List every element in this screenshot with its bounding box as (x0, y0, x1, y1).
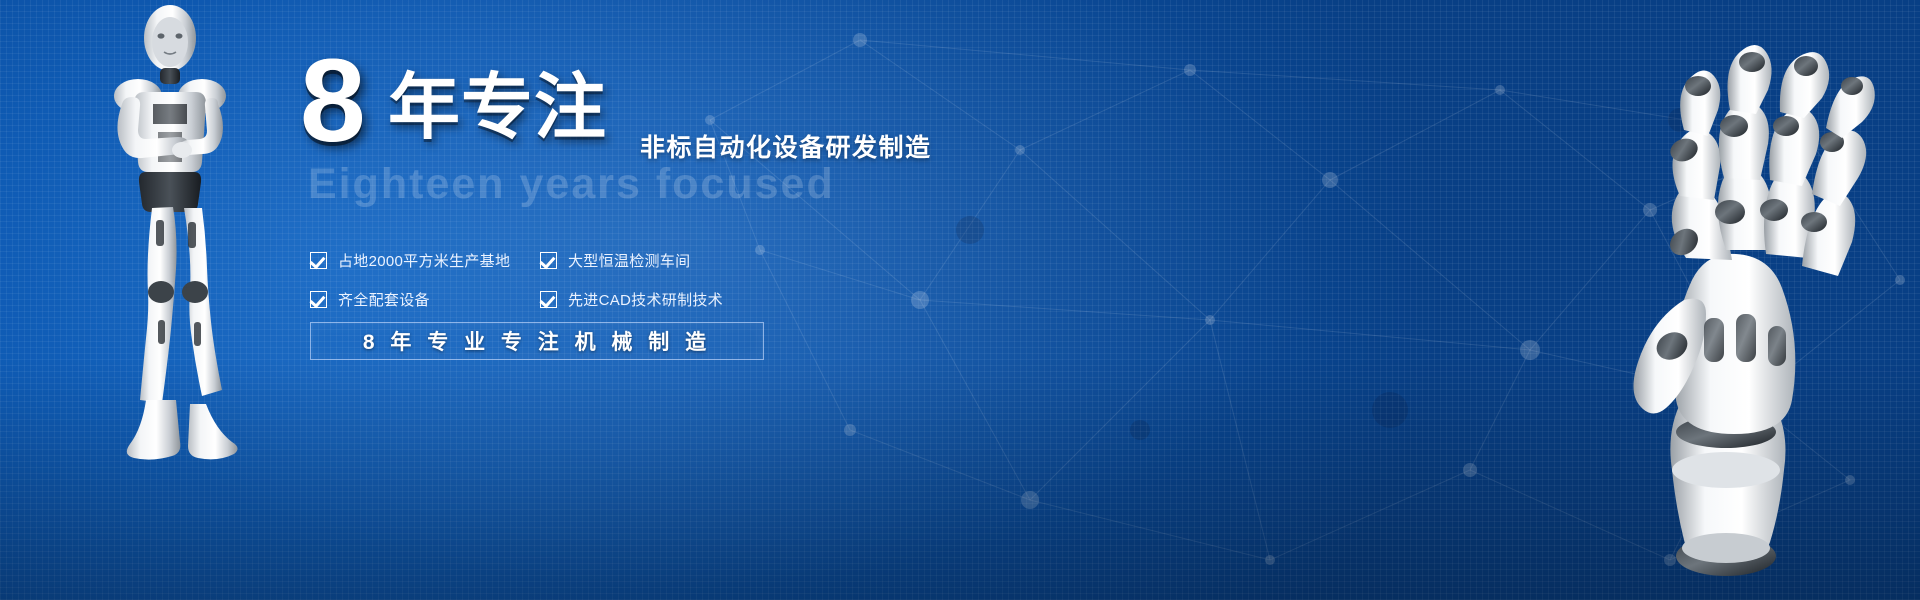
feature-item: 齐全配套设备 (310, 289, 540, 310)
feature-label: 先进CAD技术研制技术 (568, 289, 723, 310)
feature-item: 大型恒温检测车间 (540, 250, 770, 271)
english-tagline: Eighteen years focused (308, 160, 835, 209)
slogan-text: 8 年 专 业 专 注 机 械 制 造 (363, 326, 711, 356)
headline-text: 年专注 (388, 72, 607, 144)
headline-number: 8 (300, 42, 366, 160)
check-icon (540, 291, 557, 308)
slogan-bar: 8 年 专 业 专 注 机 械 制 造 (310, 322, 764, 360)
feature-label: 占地2000平方米生产基地 (338, 250, 510, 271)
banner-text-block: 8 年专注 非标自动化设备研发制造 Eighteen years focused… (300, 60, 1020, 150)
check-icon (310, 252, 327, 269)
feature-row: 齐全配套设备 先进CAD技术研制技术 (310, 289, 780, 310)
feature-item: 占地2000平方米生产基地 (310, 250, 540, 271)
sub-headline: 非标自动化设备研发制造 (640, 128, 932, 164)
check-icon (540, 252, 557, 269)
feature-row: 占地2000平方米生产基地 大型恒温检测车间 (310, 250, 780, 271)
feature-label: 大型恒温检测车间 (568, 250, 690, 271)
hero-banner: 8 年专注 非标自动化设备研发制造 Eighteen years focused… (0, 0, 1920, 600)
feature-item: 先进CAD技术研制技术 (540, 289, 770, 310)
check-icon (310, 291, 327, 308)
robotic-hand (1580, 0, 1880, 600)
feature-list: 占地2000平方米生产基地 大型恒温检测车间 齐全配套设备 先进CAD技术研制技… (310, 250, 780, 328)
humanoid-robot-standing (60, 0, 280, 490)
feature-label: 齐全配套设备 (338, 289, 430, 310)
